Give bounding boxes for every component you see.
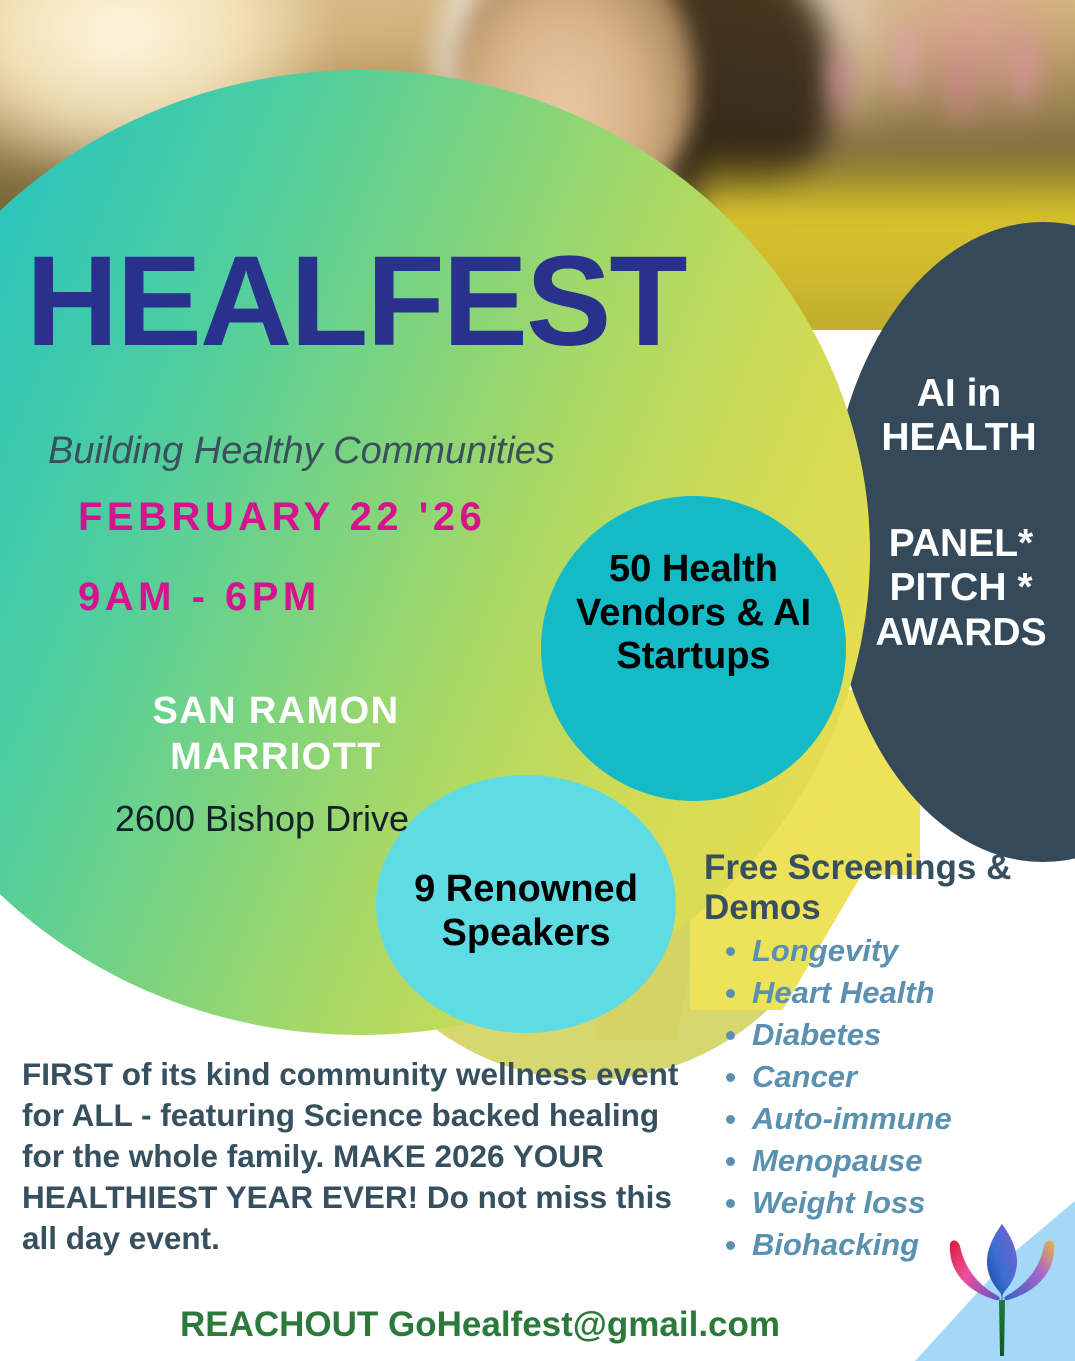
list-item: Weight loss xyxy=(752,1182,952,1224)
contact-email-line[interactable]: REACHOUT GoHealfest@gmail.com xyxy=(0,1305,960,1345)
page-title: HEALFEST xyxy=(26,238,686,366)
venue-address: 2600 Bishop Drive xyxy=(62,798,462,840)
vendors-badge-label: 50 Health Vendors & AI Startups xyxy=(541,548,846,679)
venue-line-1: SAN RAMON xyxy=(153,690,400,732)
list-item: Menopause xyxy=(752,1140,952,1182)
list-item: Biohacking xyxy=(752,1224,952,1266)
ai-in-health-label: AI in HEALTH xyxy=(845,372,1073,461)
list-item: Diabetes xyxy=(752,1014,952,1056)
screenings-title: Free Screenings & Demos xyxy=(704,848,1034,927)
lotus-icon xyxy=(938,1216,1066,1356)
list-item: Heart Health xyxy=(752,972,952,1014)
list-item: Cancer xyxy=(752,1056,952,1098)
event-time: 9AM - 6PM xyxy=(78,575,321,620)
panel-pitch-awards-label: PANEL* PITCH * AWARDS xyxy=(845,522,1075,655)
list-item: Auto-immune xyxy=(752,1098,952,1140)
speakers-badge-label: 9 Renowned Speakers xyxy=(376,868,676,955)
event-date: FEBRUARY 22 '26 xyxy=(78,495,486,540)
event-description: FIRST of its kind community wellness eve… xyxy=(22,1054,682,1259)
venue-line-2: MARRIOTT xyxy=(76,734,476,780)
list-item: Longevity xyxy=(752,930,952,972)
tagline: Building Healthy Communities xyxy=(48,430,555,473)
venue-name: SAN RAMON MARRIOTT xyxy=(76,688,476,781)
screenings-list: Longevity Heart Health Diabetes Cancer A… xyxy=(716,930,952,1266)
healfest-poster: HEALFEST Building Healthy Communities FE… xyxy=(0,0,1075,1361)
